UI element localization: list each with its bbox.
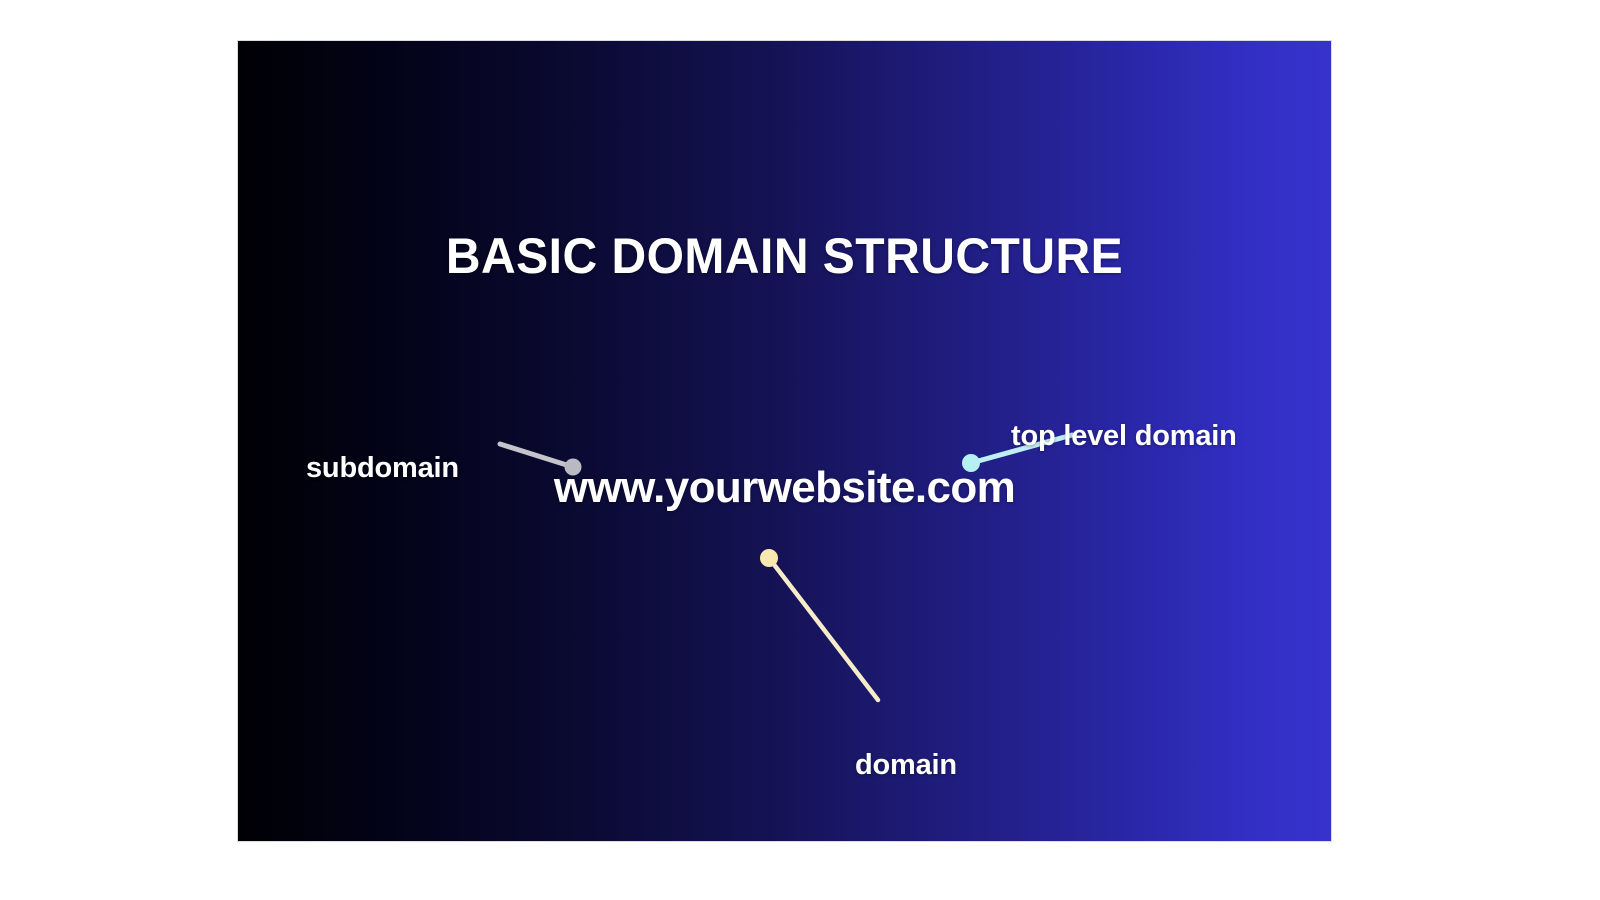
domain-leader-dot	[760, 549, 778, 567]
callout-label-top-level-domain: top level domain	[1011, 420, 1237, 453]
page-canvas: BASIC DOMAIN STRUCTURE www.yourwebsite.c…	[0, 0, 1600, 900]
callout-label-subdomain: subdomain	[306, 452, 459, 485]
domain-leader-line	[769, 558, 878, 700]
domain-structure-infographic: BASIC DOMAIN STRUCTURE www.yourwebsite.c…	[238, 41, 1331, 841]
callout-label-domain: domain	[855, 749, 957, 782]
infographic-title: BASIC DOMAIN STRUCTURE	[260, 227, 1309, 285]
